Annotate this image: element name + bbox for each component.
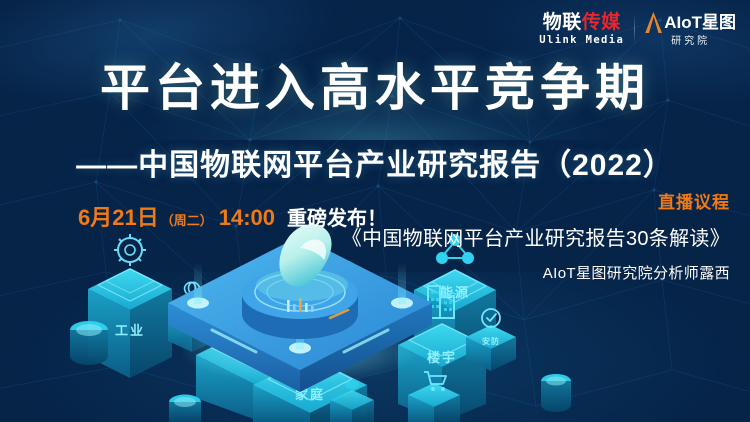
page-subtitle: ——中国物联网平台产业研究报告（2022）	[0, 140, 750, 184]
release-line: 6月21日 （周二） 14:00 重磅发布！	[78, 200, 387, 232]
logo-aiot-sub: 研究院	[671, 37, 710, 47]
logo-divider	[634, 14, 635, 44]
logo-aiot-row: AIoT星图	[645, 11, 736, 33]
logo-ulink-cn: 物联传媒	[543, 13, 621, 32]
header-logos: 物联传媒 Ulink Media AIoT星图 研究院	[539, 11, 736, 47]
logo-ulink-cn-red: 传媒	[582, 12, 621, 33]
agenda-heading: 直播议程	[342, 188, 730, 213]
poster-canvas: 物联传媒 Ulink Media AIoT星图 研究院 平台进入高水平竞争期 —…	[0, 0, 750, 422]
agenda-panel: 直播议程 《中国物联网平台产业研究报告30条解读》 AIoT星图研究院分析师露西	[342, 188, 730, 283]
a-triangle-icon	[645, 11, 662, 33]
logo-ulink-en: Ulink Media	[539, 35, 624, 46]
logo-aiot-name: AIoT星图	[664, 14, 736, 31]
page-title: 平台进入高水平竞争期	[0, 60, 750, 116]
release-date: 6月21日	[78, 200, 159, 232]
logo-ulink-media: 物联传媒 Ulink Media	[539, 13, 624, 46]
release-time: 14:00	[219, 205, 275, 231]
agenda-speaker: AIoT星图研究院分析师露西	[342, 262, 730, 283]
logo-aiot-xingtu: AIoT星图 研究院	[645, 11, 736, 47]
logo-ulink-cn-white: 物联	[543, 12, 582, 33]
release-weekday: （周二）	[161, 210, 213, 229]
agenda-topic: 《中国物联网平台产业研究报告30条解读》	[342, 222, 730, 251]
